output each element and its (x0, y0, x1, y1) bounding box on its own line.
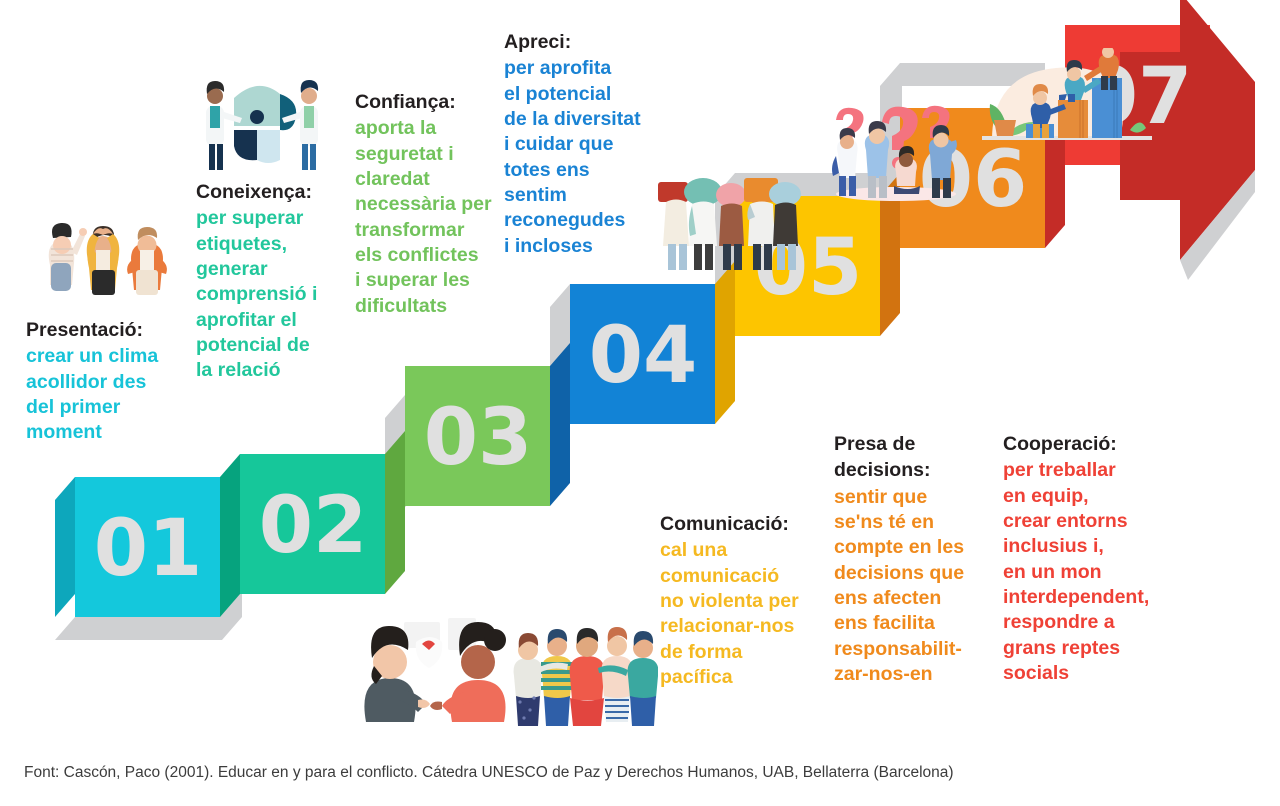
step-body-02-line-5: aprofitar el (196, 308, 356, 333)
step-text-02: Coneixença: per superar etiquetes, gener… (196, 180, 356, 384)
step-text-07: Cooperació: per treballar en equip, crea… (1003, 432, 1188, 686)
step-heading-06-line-1: Presa de (834, 432, 1009, 457)
step-body-06-line-6: ens facilita (834, 611, 1009, 636)
step-body-04-line-2: el potencial (504, 82, 674, 107)
step-body-03-line-5: transformar (355, 218, 520, 243)
step-number-04: 04 (589, 311, 698, 401)
step-heading-06-line-2: decisions: (834, 458, 1009, 483)
step-body-03-line-3: claredat (355, 167, 520, 192)
three-people-cheering-illustration (20, 190, 185, 315)
step-body-05-line-4: relacionar-nos (660, 614, 830, 639)
step-heading-04: Apreci: (504, 30, 674, 55)
step-body-07-line-7: respondre a (1003, 610, 1188, 635)
step-body-06-line-7: responsabilit- (834, 637, 1009, 662)
step-body-04-line-1: per aprofita (504, 56, 674, 81)
step-text-04: Apreci: per aprofita el potencial de la … (504, 30, 674, 259)
step-text-03: Confiança: aporta la seguretat i clareda… (355, 90, 520, 319)
step-body-02-line-2: etiquetes, (196, 232, 356, 257)
teamwork-climbing-bars-illustration (982, 48, 1152, 168)
step-body-04-line-3: de la diversitat (504, 107, 674, 132)
step-body-03-line-1: aporta la (355, 116, 520, 141)
infographic-canvas: 01 02 03 04 05 06 07 (0, 0, 1280, 806)
step-body-04-line-4: i cuidar que (504, 132, 674, 157)
step-body-07-line-2: en equip, (1003, 484, 1188, 509)
step-body-07-line-8: grans reptes (1003, 636, 1188, 661)
step-body-01-line-2: acollidor des (26, 370, 201, 395)
step-body-01-line-4: moment (26, 420, 201, 445)
step-body-07-line-6: interdependent, (1003, 585, 1188, 610)
step-heading-03: Confiança: (355, 90, 520, 115)
step-body-02-line-6: potencial de (196, 333, 356, 358)
step-heading-05: Comunicació: (660, 512, 830, 537)
people-question-marks-illustration (818, 98, 973, 203)
step-number-02: 02 (259, 481, 368, 571)
step-heading-02: Coneixença: (196, 180, 356, 205)
step-body-07-line-1: per treballar (1003, 458, 1188, 483)
step-body-05-line-6: pacífica (660, 665, 830, 690)
step-body-03-line-6: els conflictes (355, 243, 520, 268)
step-body-06-line-3: compte en les (834, 535, 1009, 560)
step-body-06-line-1: sentir que (834, 485, 1009, 510)
people-speech-bubbles-illustration (652, 168, 807, 280)
step-body-03-line-7: i superar les (355, 268, 520, 293)
step-number-03: 03 (424, 393, 533, 483)
step-body-07-line-5: en un mon (1003, 560, 1188, 585)
step-body-07-line-9: socials (1003, 661, 1188, 686)
step-body-01-line-3: del primer (26, 395, 201, 420)
step-text-05: Comunicació: cal una comunicació no viol… (660, 512, 830, 690)
step-body-02-line-7: la relació (196, 358, 356, 383)
step-number-01: 01 (94, 504, 203, 594)
step-body-03-line-8: dificultats (355, 294, 520, 319)
group-hug-illustration (508, 618, 658, 730)
step-body-02-line-1: per superar (196, 206, 356, 231)
source-citation: Font: Cascón, Paco (2001). Educar en y p… (24, 764, 954, 782)
step-body-06-line-2: se'ns té en (834, 510, 1009, 535)
step-body-05-line-2: comunicació (660, 564, 830, 589)
step-body-03-line-4: necessària per (355, 192, 520, 217)
step-body-07-line-4: inclusius i, (1003, 534, 1188, 559)
step-body-04-line-5: totes ens (504, 158, 674, 183)
two-women-talking-illustration (352, 614, 517, 732)
step-body-06-line-4: decisions que (834, 561, 1009, 586)
step-body-02-line-3: generar (196, 257, 356, 282)
step-text-01: Presentació: crear un clima acollidor de… (26, 318, 201, 446)
step-body-02-line-4: comprensió i (196, 282, 356, 307)
step-body-04-line-7: reconegudes (504, 208, 674, 233)
step-body-04-line-6: sentim (504, 183, 674, 208)
step-body-06-line-8: zar-nos-en (834, 662, 1009, 687)
step-body-05-line-5: de forma (660, 640, 830, 665)
step-body-03-line-2: seguretat i (355, 142, 520, 167)
step-body-05-line-3: no violenta per (660, 589, 830, 614)
step-heading-07: Cooperació: (1003, 432, 1188, 457)
step-heading-01: Presentació: (26, 318, 201, 343)
step-body-07-line-3: crear entorns (1003, 509, 1188, 534)
puzzle-head-teamwork-illustration (192, 62, 332, 182)
step-body-05-line-1: cal una (660, 538, 830, 563)
step-body-06-line-5: ens afecten (834, 586, 1009, 611)
step-text-06: Presa de decisions: sentir que se'ns té … (834, 432, 1009, 687)
step-body-04-line-8: i incloses (504, 234, 674, 259)
step-body-01-line-1: crear un clima (26, 344, 201, 369)
